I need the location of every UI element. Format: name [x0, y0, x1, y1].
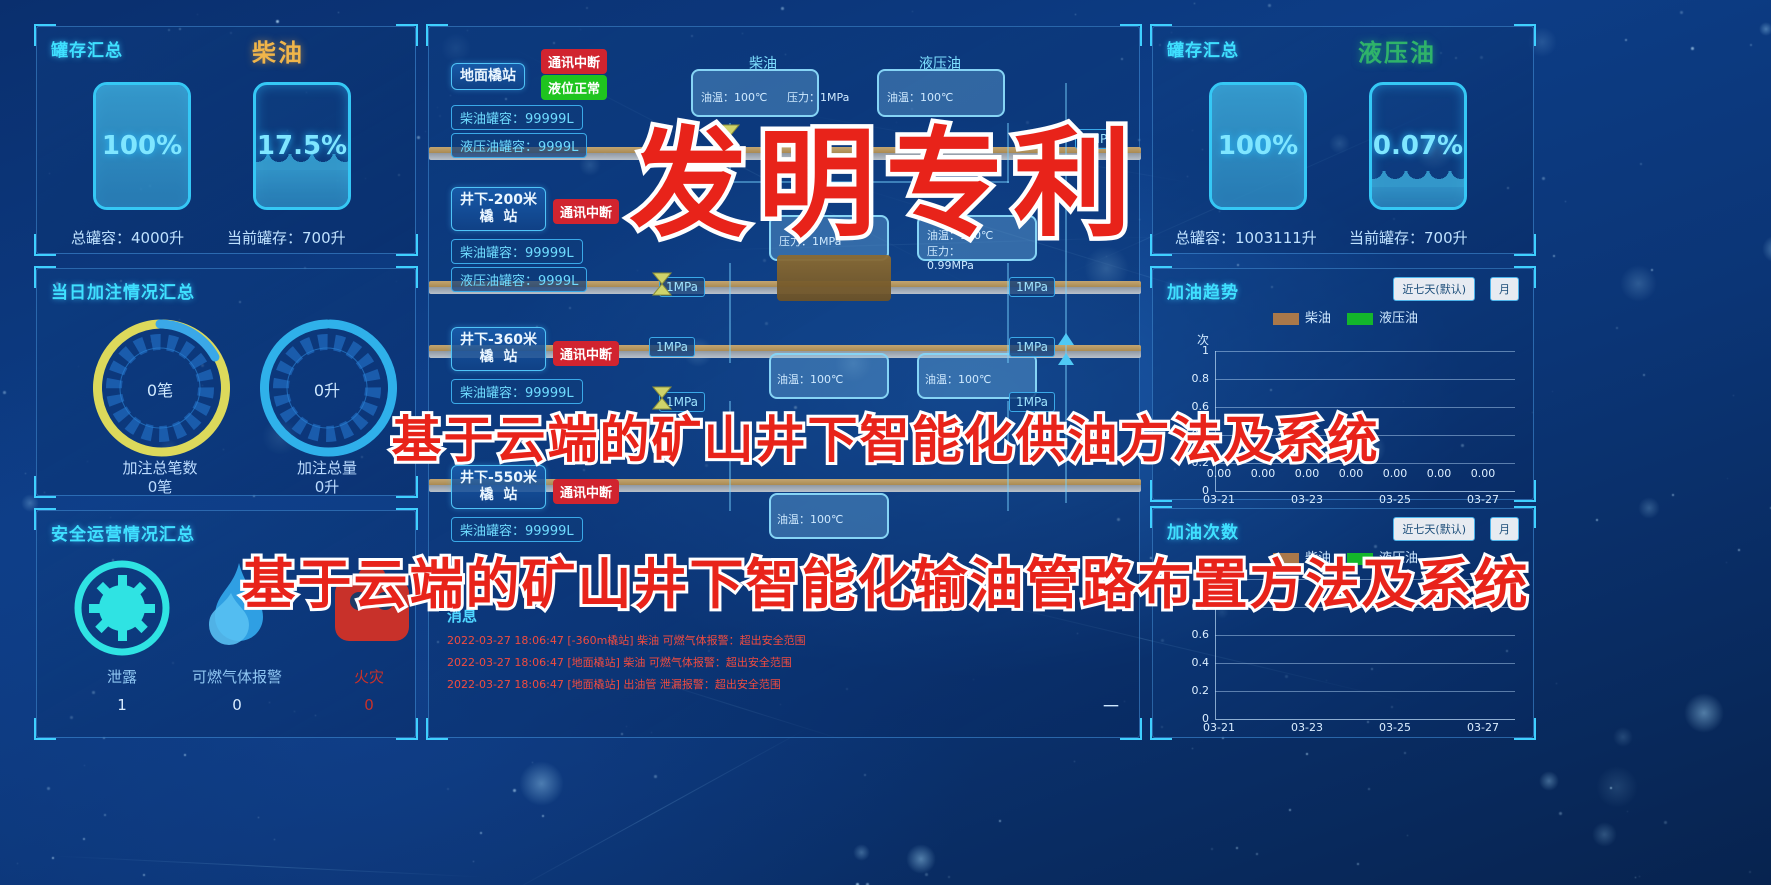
- readout-360-temp2: 油温：100℃: [925, 371, 991, 387]
- dashboard-root: 罐存汇总 柴油 100% 总罐容：4000升 17.5% 当前罐存：700升 当…: [0, 0, 1771, 885]
- range-select-count[interactable]: 近七天(默认): [1393, 517, 1475, 541]
- tank-current-percent-left: 17.5%: [256, 131, 348, 161]
- safety-label-gas-alarm: 可燃气体报警: [177, 666, 297, 687]
- tank-current-label-right: 当前罐存：700升: [1349, 227, 1468, 248]
- capacity-hydraulic-surface: 液压油罐容：9999L: [451, 133, 587, 158]
- legend-item-hydraulic: 液压油: [1347, 307, 1418, 326]
- status-badge-level-surface: 液位正常: [541, 75, 607, 100]
- safety-label-fire: 火灾: [309, 666, 429, 687]
- capacity-diesel-550: 柴油罐容：99999L: [451, 517, 583, 542]
- panel-title-refuel-trend: 加油趋势: [1167, 278, 1239, 303]
- message-log-line: 2022-03-27 18:06:47 [地面橇站] 柴油 可燃气体报警：超出安…: [447, 654, 1047, 670]
- status-badge-comm-200: 通讯中断: [553, 199, 619, 224]
- gear-icon: [73, 559, 171, 657]
- status-badge-comm-360: 通讯中断: [553, 341, 619, 366]
- xtick: 03-25: [1373, 493, 1417, 506]
- status-badge-comm-surface: 通讯中断: [541, 49, 607, 74]
- vessel-mid-filled: [777, 255, 891, 301]
- xtick: 03-23: [1285, 721, 1329, 734]
- safety-label-leak: 泄露: [62, 666, 182, 687]
- overlay-patent-title: 发明专利: [629, 88, 1141, 259]
- xtick: 03-25: [1373, 721, 1417, 734]
- tank-total-label-left: 总罐容：4000升: [71, 227, 184, 248]
- panel-title-safety: 安全运营情况汇总: [51, 520, 195, 545]
- station-label-surface[interactable]: 地面橇站: [451, 63, 525, 90]
- readout-360-temp: 油温：100℃: [777, 371, 843, 387]
- pressure-tag-5: 1MPa: [1009, 337, 1055, 357]
- pressure-tag-3: 1MPa: [1009, 277, 1055, 297]
- flow-arrow-icon: [1057, 333, 1075, 373]
- ytick: 0.4: [1175, 656, 1209, 669]
- capacity-hydraulic-200: 液压油罐容：9999L: [451, 267, 587, 292]
- xtick: 03-27: [1461, 721, 1505, 734]
- safety-value-gas-alarm: 0: [177, 696, 297, 714]
- ytick: 0.2: [1175, 684, 1209, 697]
- message-log-line: 2022-03-27 18:06:47 [-360m橇站] 柴油 可燃气体报警：…: [447, 632, 1047, 648]
- gauge-refuel-count-value: 0笔: [85, 377, 235, 401]
- overlay-patent-line-1: 基于云端的矿山井下智能化供油方法及系统: [392, 400, 1380, 472]
- station-label-360[interactable]: 井下-360米橇 站: [451, 327, 546, 371]
- valve-icon: [651, 271, 673, 297]
- ytick: 0.6: [1175, 628, 1209, 641]
- product-name-hydraulic: 液压油: [1358, 33, 1436, 68]
- gauge-refuel-volume: 0升: [252, 313, 402, 463]
- ytick: 0.8: [1175, 372, 1209, 385]
- chart-legend-trend: 柴油 液压油: [1273, 307, 1418, 326]
- panel-tank-summary-diesel: 罐存汇总 柴油 100% 总罐容：4000升 17.5% 当前罐存：700升: [36, 26, 416, 254]
- range-month-trend[interactable]: 月: [1490, 277, 1519, 301]
- tank-total-percent-left: 100%: [96, 131, 188, 161]
- tank-current-percent-right: 0.07%: [1372, 131, 1464, 161]
- gauge-refuel-count-caption: 加注总笔数0笔: [85, 459, 235, 497]
- safety-value-fire: 0: [309, 696, 429, 714]
- safety-value-leak: 1: [62, 696, 182, 714]
- tank-gauge-current-left: 17.5%: [253, 82, 351, 210]
- capacity-diesel-surface: 柴油罐容：99999L: [451, 105, 583, 130]
- station-label-200[interactable]: 井下-200米橇 站: [451, 187, 546, 231]
- xtick: 03-23: [1285, 493, 1329, 506]
- zoom-out-button[interactable]: －: [1101, 690, 1121, 719]
- legend-item-diesel: 柴油: [1273, 307, 1331, 326]
- panel-tank-summary-hydraulic: 罐存汇总 液压油 100% 总罐容：1003111升 0.07% 当前罐存：70…: [1152, 26, 1534, 254]
- panel-title-tank-summary-left: 罐存汇总: [51, 36, 123, 61]
- tank-current-label-left: 当前罐存：700升: [227, 227, 346, 248]
- panel-daily-refuel-summary: 当日加注情况汇总 0笔 加注总笔数0笔 0升 加注总量0升: [36, 268, 416, 496]
- product-name-diesel: 柴油: [252, 33, 304, 68]
- xtick: 03-21: [1197, 493, 1241, 506]
- point-label: 0.00: [1461, 467, 1505, 480]
- range-month-count[interactable]: 月: [1490, 517, 1519, 541]
- gauge-refuel-count: 0笔: [85, 313, 235, 463]
- gauge-refuel-volume-caption: 加注总量0升: [252, 459, 402, 497]
- xtick: 03-21: [1197, 721, 1241, 734]
- ytick: 1: [1175, 344, 1209, 357]
- tank-gauge-total-right: 100%: [1209, 82, 1307, 210]
- point-label: 0.00: [1417, 467, 1461, 480]
- readout-550-temp: 油温：100℃: [777, 511, 843, 527]
- xtick: 03-27: [1461, 493, 1505, 506]
- tank-gauge-current-right: 0.07%: [1369, 82, 1467, 210]
- capacity-diesel-200: 柴油罐容：99999L: [451, 239, 583, 264]
- point-label: 0.00: [1373, 467, 1417, 480]
- status-badge-comm-550: 通讯中断: [553, 479, 619, 504]
- gauge-refuel-volume-value: 0升: [252, 377, 402, 401]
- panel-title-tank-summary-right: 罐存汇总: [1167, 36, 1239, 61]
- tank-total-percent-right: 100%: [1212, 131, 1304, 161]
- panel-title-daily-refuel: 当日加注情况汇总: [51, 278, 195, 303]
- tank-gauge-total-left: 100%: [93, 82, 191, 210]
- pressure-tag-4: 1MPa: [649, 337, 695, 357]
- message-log-line: 2022-03-27 18:06:47 [地面橇站] 出油管 泄漏报警：超出安全…: [447, 676, 1047, 692]
- range-select-trend[interactable]: 近七天(默认): [1393, 277, 1475, 301]
- tank-total-label-right: 总罐容：1003111升: [1175, 227, 1317, 248]
- overlay-patent-line-2: 基于云端的矿山井下智能化输油管路布置方法及系统: [242, 540, 1530, 619]
